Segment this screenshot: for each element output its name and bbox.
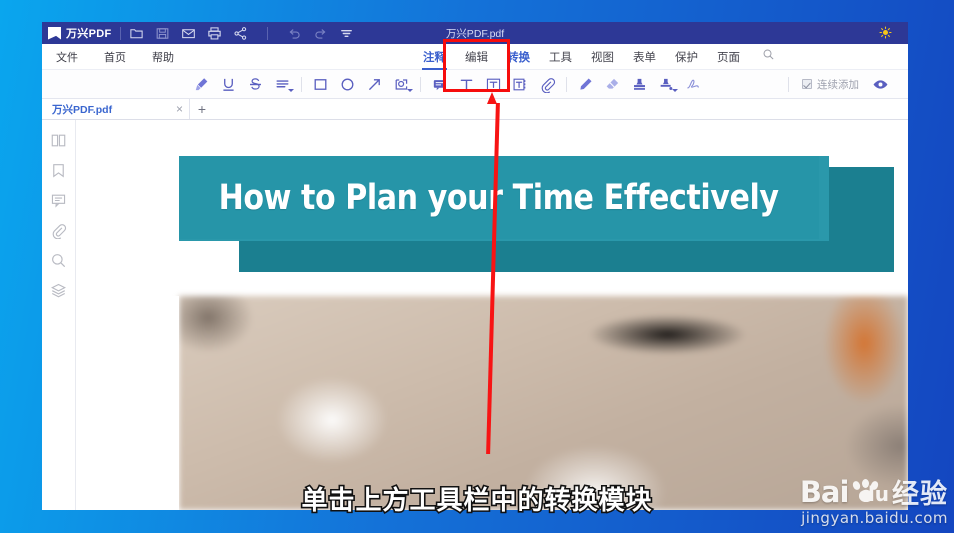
custom-stamp-icon[interactable] xyxy=(653,72,680,97)
arrow-icon[interactable] xyxy=(361,72,388,97)
underline-icon[interactable] xyxy=(215,72,242,97)
signature-icon[interactable] xyxy=(680,72,707,97)
tab-form[interactable]: 表单 xyxy=(632,45,657,70)
chevron-down-icon[interactable] xyxy=(407,89,413,92)
save-icon[interactable] xyxy=(155,26,170,41)
thumbnails-icon[interactable] xyxy=(50,132,67,149)
checkbox-box[interactable] xyxy=(802,79,812,89)
close-icon[interactable]: × xyxy=(176,103,183,115)
search-icon[interactable] xyxy=(762,48,775,66)
paw-icon xyxy=(851,479,881,505)
layers-icon[interactable] xyxy=(50,282,67,299)
menu-left-group: 文件 首页 帮助 xyxy=(42,49,174,65)
watermark-chinese-label: 经验 xyxy=(892,472,948,511)
more-dropdown-icon[interactable] xyxy=(339,26,354,41)
bookmark-icon[interactable] xyxy=(50,162,67,179)
menu-item-home[interactable]: 首页 xyxy=(104,49,126,65)
strikethrough-icon[interactable] xyxy=(242,72,269,97)
annotation-highlight-box xyxy=(443,39,510,92)
baidu-watermark: Bai du 经验 jingyan.baidu.com xyxy=(800,472,948,527)
continuous-add-checkbox[interactable]: 连续添加 xyxy=(802,77,859,92)
search-icon[interactable] xyxy=(50,252,67,269)
tab-view[interactable]: 视图 xyxy=(590,45,615,70)
print-icon[interactable] xyxy=(207,26,222,41)
attachment-icon[interactable] xyxy=(534,72,561,97)
titlebar-divider-2 xyxy=(267,27,268,40)
eraser-icon[interactable] xyxy=(599,72,626,97)
annotation-arrow xyxy=(487,92,497,454)
photo-left-margin xyxy=(76,296,179,510)
workspace: How to Plan your Time Effectively xyxy=(42,120,908,510)
menu-item-help[interactable]: 帮助 xyxy=(152,49,174,65)
toolbar-right-group: 连续添加 xyxy=(783,72,908,97)
toolbar-divider-2 xyxy=(420,77,421,92)
chevron-down-icon[interactable] xyxy=(672,89,678,92)
titlebar-quick-actions xyxy=(129,26,354,41)
titlebar-divider xyxy=(120,27,121,40)
arrow-shaft xyxy=(486,103,499,454)
sun-icon[interactable] xyxy=(879,26,892,39)
attachment-icon[interactable] xyxy=(50,222,67,239)
eye-icon[interactable] xyxy=(867,72,894,97)
document-photo xyxy=(179,296,908,510)
squiggly-lines-icon[interactable] xyxy=(269,72,296,97)
share-icon[interactable] xyxy=(233,26,248,41)
new-tab-button[interactable]: + xyxy=(190,99,214,119)
document-tab-strip: 万兴PDF.pdf × + xyxy=(42,99,908,120)
application-window: 万兴PDF xyxy=(42,22,908,510)
tab-page[interactable]: 页面 xyxy=(716,45,741,70)
left-sidebar xyxy=(42,120,76,510)
rectangle-icon[interactable] xyxy=(307,72,334,97)
email-icon[interactable] xyxy=(181,26,196,41)
tab-protect[interactable]: 保护 xyxy=(674,45,699,70)
continuous-add-label: 连续添加 xyxy=(817,77,859,92)
shapes-icon[interactable] xyxy=(388,72,415,97)
app-logo-icon xyxy=(48,27,61,40)
ellipse-icon[interactable] xyxy=(334,72,361,97)
watermark-bai-label: Bai xyxy=(800,475,849,509)
redo-icon[interactable] xyxy=(313,26,328,41)
undo-icon[interactable] xyxy=(287,26,302,41)
toolbar-divider-1 xyxy=(301,77,302,92)
stamp-icon[interactable] xyxy=(626,72,653,97)
pencil-icon[interactable] xyxy=(572,72,599,97)
toolbar-divider-3 xyxy=(566,77,567,92)
comment-icon[interactable] xyxy=(50,192,67,209)
document-hero-title: How to Plan your Time Effectively xyxy=(219,178,779,218)
document-tab[interactable]: 万兴PDF.pdf × xyxy=(42,99,190,119)
hero-banner: How to Plan your Time Effectively xyxy=(179,156,819,239)
watermark-logo-row: Bai du 经验 xyxy=(800,472,948,511)
chevron-down-icon[interactable] xyxy=(288,89,294,92)
text-callout-icon[interactable] xyxy=(507,72,534,97)
toolbar-divider-4 xyxy=(788,77,789,92)
tab-tools[interactable]: 工具 xyxy=(548,45,573,70)
highlight-icon[interactable] xyxy=(188,72,215,97)
document-tab-label: 万兴PDF.pdf xyxy=(52,102,176,117)
menu-item-file[interactable]: 文件 xyxy=(56,49,78,65)
open-folder-icon[interactable] xyxy=(129,26,144,41)
watermark-url: jingyan.baidu.com xyxy=(800,509,948,527)
app-brand-label: 万兴PDF xyxy=(66,25,112,41)
